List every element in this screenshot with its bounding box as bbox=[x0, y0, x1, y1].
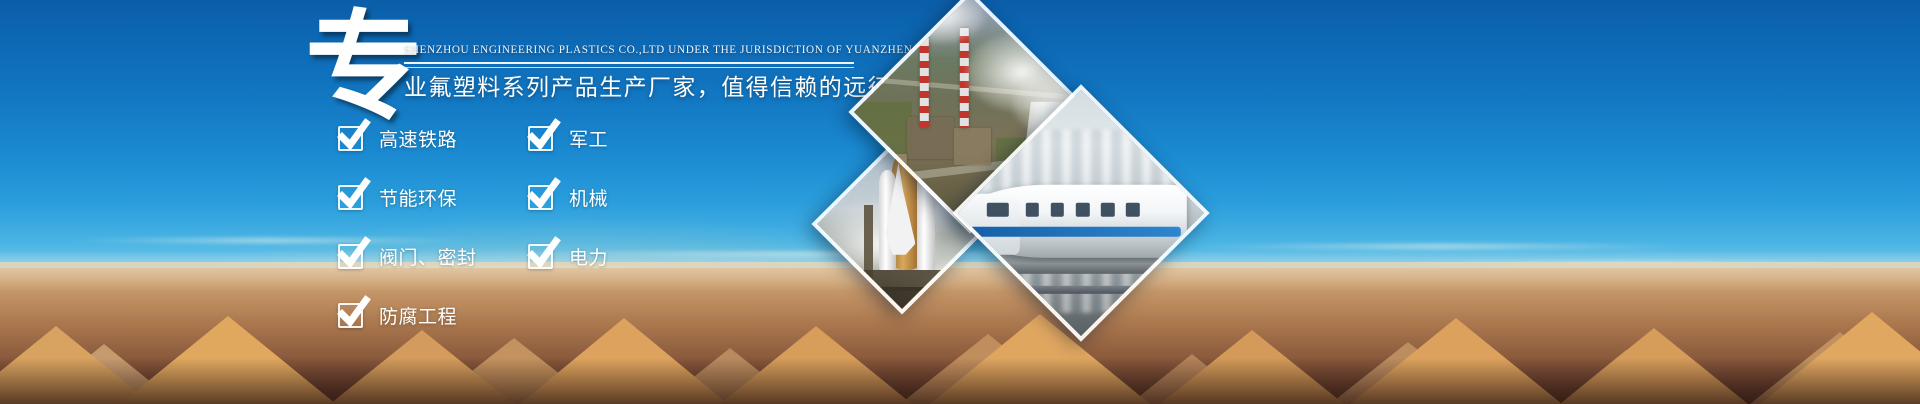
pyramid bbox=[1160, 330, 1344, 404]
feature-label: 军工 bbox=[569, 125, 608, 152]
pyramid bbox=[120, 316, 336, 404]
train-window bbox=[1075, 203, 1089, 217]
feature-label: 节能环保 bbox=[379, 184, 457, 211]
check-box-icon bbox=[528, 185, 553, 210]
divider-line-thin bbox=[404, 67, 854, 68]
list-item[interactable]: 节能环保 bbox=[338, 181, 477, 213]
feature-label: 阀门、密封 bbox=[379, 243, 477, 270]
divider-rules bbox=[404, 62, 854, 68]
train-window bbox=[1126, 203, 1140, 217]
promotional-banner: 专 SHENZHOU ENGINEERING PLASTICS CO.,LTD … bbox=[0, 0, 1920, 404]
list-item[interactable]: 阀门、密封 bbox=[338, 240, 477, 272]
pyramid bbox=[720, 326, 912, 404]
chinese-tagline: 业氟塑料系列产品生产厂家，值得信赖的远征品牌 bbox=[404, 74, 884, 103]
train-window bbox=[1025, 203, 1039, 217]
check-box-icon bbox=[338, 185, 363, 210]
list-item[interactable]: 军工 bbox=[528, 122, 608, 154]
plant-building bbox=[907, 117, 954, 159]
pyramid bbox=[1760, 312, 1920, 404]
feature-column-secondary: 军工 机械 电力 bbox=[528, 122, 608, 299]
pyramid bbox=[1350, 318, 1562, 404]
pyramid bbox=[520, 318, 728, 404]
plant-building bbox=[954, 128, 991, 165]
check-box-icon bbox=[338, 244, 363, 269]
feature-label: 高速铁路 bbox=[379, 125, 457, 152]
english-subtitle: SHENZHOU ENGINEERING PLASTICS CO.,LTD UN… bbox=[404, 44, 884, 56]
pyramid bbox=[1560, 328, 1748, 404]
check-box-icon bbox=[528, 244, 553, 269]
list-item[interactable]: 防腐工程 bbox=[338, 299, 477, 331]
feature-label: 电力 bbox=[569, 243, 608, 270]
check-box-icon bbox=[528, 126, 553, 151]
train-stripe bbox=[970, 227, 1182, 237]
train-window bbox=[1100, 203, 1114, 217]
check-box-icon bbox=[338, 303, 363, 328]
pyramid bbox=[930, 314, 1150, 404]
headline-block: SHENZHOU ENGINEERING PLASTICS CO.,LTD UN… bbox=[404, 44, 884, 103]
list-item[interactable]: 机械 bbox=[528, 181, 608, 213]
train-window bbox=[986, 203, 1008, 217]
train-window bbox=[1050, 203, 1064, 217]
check-box-icon bbox=[338, 126, 363, 151]
feature-label: 防腐工程 bbox=[379, 302, 457, 329]
feature-column-primary: 高速铁路 节能环保 阀门、密封 防腐工程 bbox=[338, 122, 477, 358]
list-item[interactable]: 电力 bbox=[528, 240, 608, 272]
divider-line-thick bbox=[404, 62, 854, 64]
list-item[interactable]: 高速铁路 bbox=[338, 122, 477, 154]
feature-label: 机械 bbox=[569, 184, 608, 211]
